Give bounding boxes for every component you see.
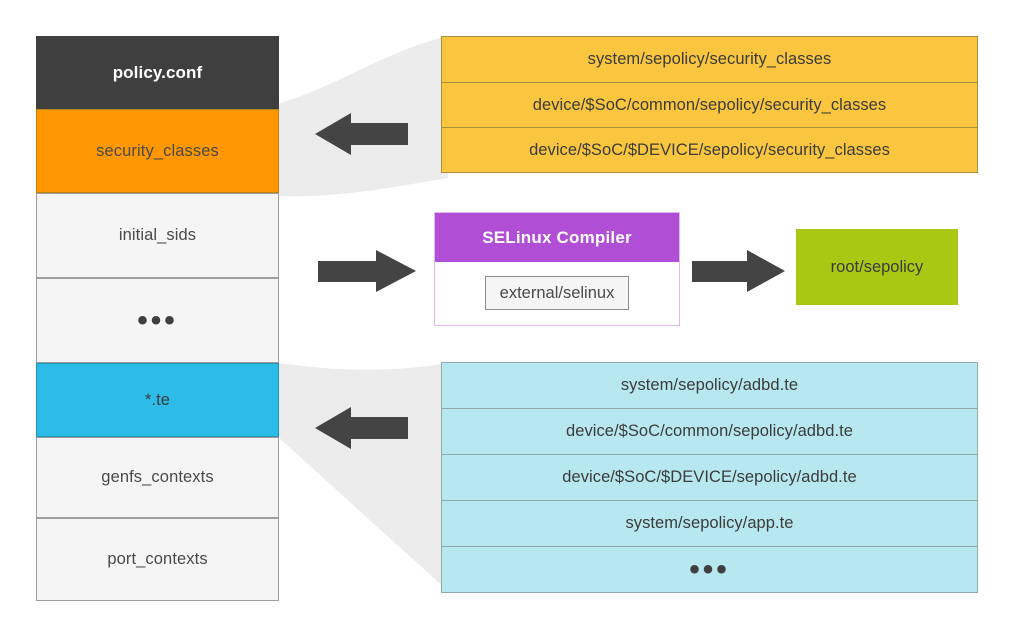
policy-row-port-contexts[interactable]: port_contexts: [36, 518, 279, 601]
policy-row-initial-sids[interactable]: initial_sids: [36, 193, 279, 278]
table-row[interactable]: device/$SoC/$DEVICE/sepolicy/security_cl…: [441, 127, 978, 173]
table-row[interactable]: system/sepolicy/security_classes: [441, 36, 978, 83]
selinux-compiler-header: SELinux Compiler: [435, 213, 679, 262]
table-cell-label: device/$SoC/$DEVICE/sepolicy/security_cl…: [529, 141, 890, 160]
table-cell-label: device/$SoC/common/sepolicy/adbd.te: [566, 422, 853, 441]
table-cell-label: system/sepolicy/adbd.te: [621, 376, 798, 395]
policy-conf-stack: policy.conf security_classes initial_sid…: [36, 36, 279, 600]
table-row[interactable]: device/$SoC/common/sepolicy/security_cla…: [441, 82, 978, 128]
arrow-left-to-te: [313, 407, 408, 449]
policy-row-initial-sids-label: initial_sids: [119, 226, 196, 245]
te-source-table: system/sepolicy/adbd.te device/$SoC/comm…: [441, 362, 978, 593]
policy-row-te-label: *.te: [145, 391, 170, 410]
arrow-left-to-security-classes: [313, 113, 408, 155]
policy-conf-header-label: policy.conf: [113, 63, 203, 83]
policy-row-te[interactable]: *.te: [36, 363, 279, 437]
policy-row-security-classes-label: security_classes: [96, 142, 219, 161]
policy-row-genfs-contexts[interactable]: genfs_contexts: [36, 437, 279, 518]
policy-row-port-contexts-label: port_contexts: [107, 550, 207, 569]
table-cell-label: device/$SoC/$DEVICE/sepolicy/adbd.te: [562, 468, 856, 487]
security-classes-source-table: system/sepolicy/security_classes device/…: [441, 36, 978, 173]
policy-row-genfs-contexts-label: genfs_contexts: [101, 468, 213, 487]
table-cell-label: system/sepolicy/security_classes: [588, 50, 832, 69]
selinux-compiler-body: external/selinux: [435, 262, 679, 324]
selinux-policy-diagram: policy.conf security_classes initial_sid…: [0, 0, 1013, 618]
table-row: •••: [441, 546, 978, 593]
table-row[interactable]: system/sepolicy/adbd.te: [441, 362, 978, 409]
table-row[interactable]: device/$SoC/common/sepolicy/adbd.te: [441, 408, 978, 455]
policy-row-ellipsis: •••: [36, 278, 279, 363]
selinux-compiler-card: SELinux Compiler external/selinux: [434, 212, 680, 326]
policy-conf-header: policy.conf: [36, 36, 279, 109]
arrow-right-to-output: [692, 250, 787, 292]
policy-row-security-classes[interactable]: security_classes: [36, 109, 279, 193]
external-selinux-chip[interactable]: external/selinux: [485, 276, 630, 311]
table-cell-label: device/$SoC/common/sepolicy/security_cla…: [533, 96, 886, 115]
arrow-right-to-compiler: [318, 250, 418, 292]
table-row[interactable]: device/$SoC/$DEVICE/sepolicy/adbd.te: [441, 454, 978, 501]
output-sepolicy-box[interactable]: root/sepolicy: [796, 229, 958, 305]
funnel-security-classes: [278, 28, 448, 218]
funnel-te-files: [278, 355, 448, 600]
table-row[interactable]: system/sepolicy/app.te: [441, 500, 978, 547]
table-cell-label: system/sepolicy/app.te: [625, 514, 793, 533]
output-sepolicy-label: root/sepolicy: [831, 258, 924, 277]
selinux-compiler-title: SELinux Compiler: [482, 228, 632, 248]
